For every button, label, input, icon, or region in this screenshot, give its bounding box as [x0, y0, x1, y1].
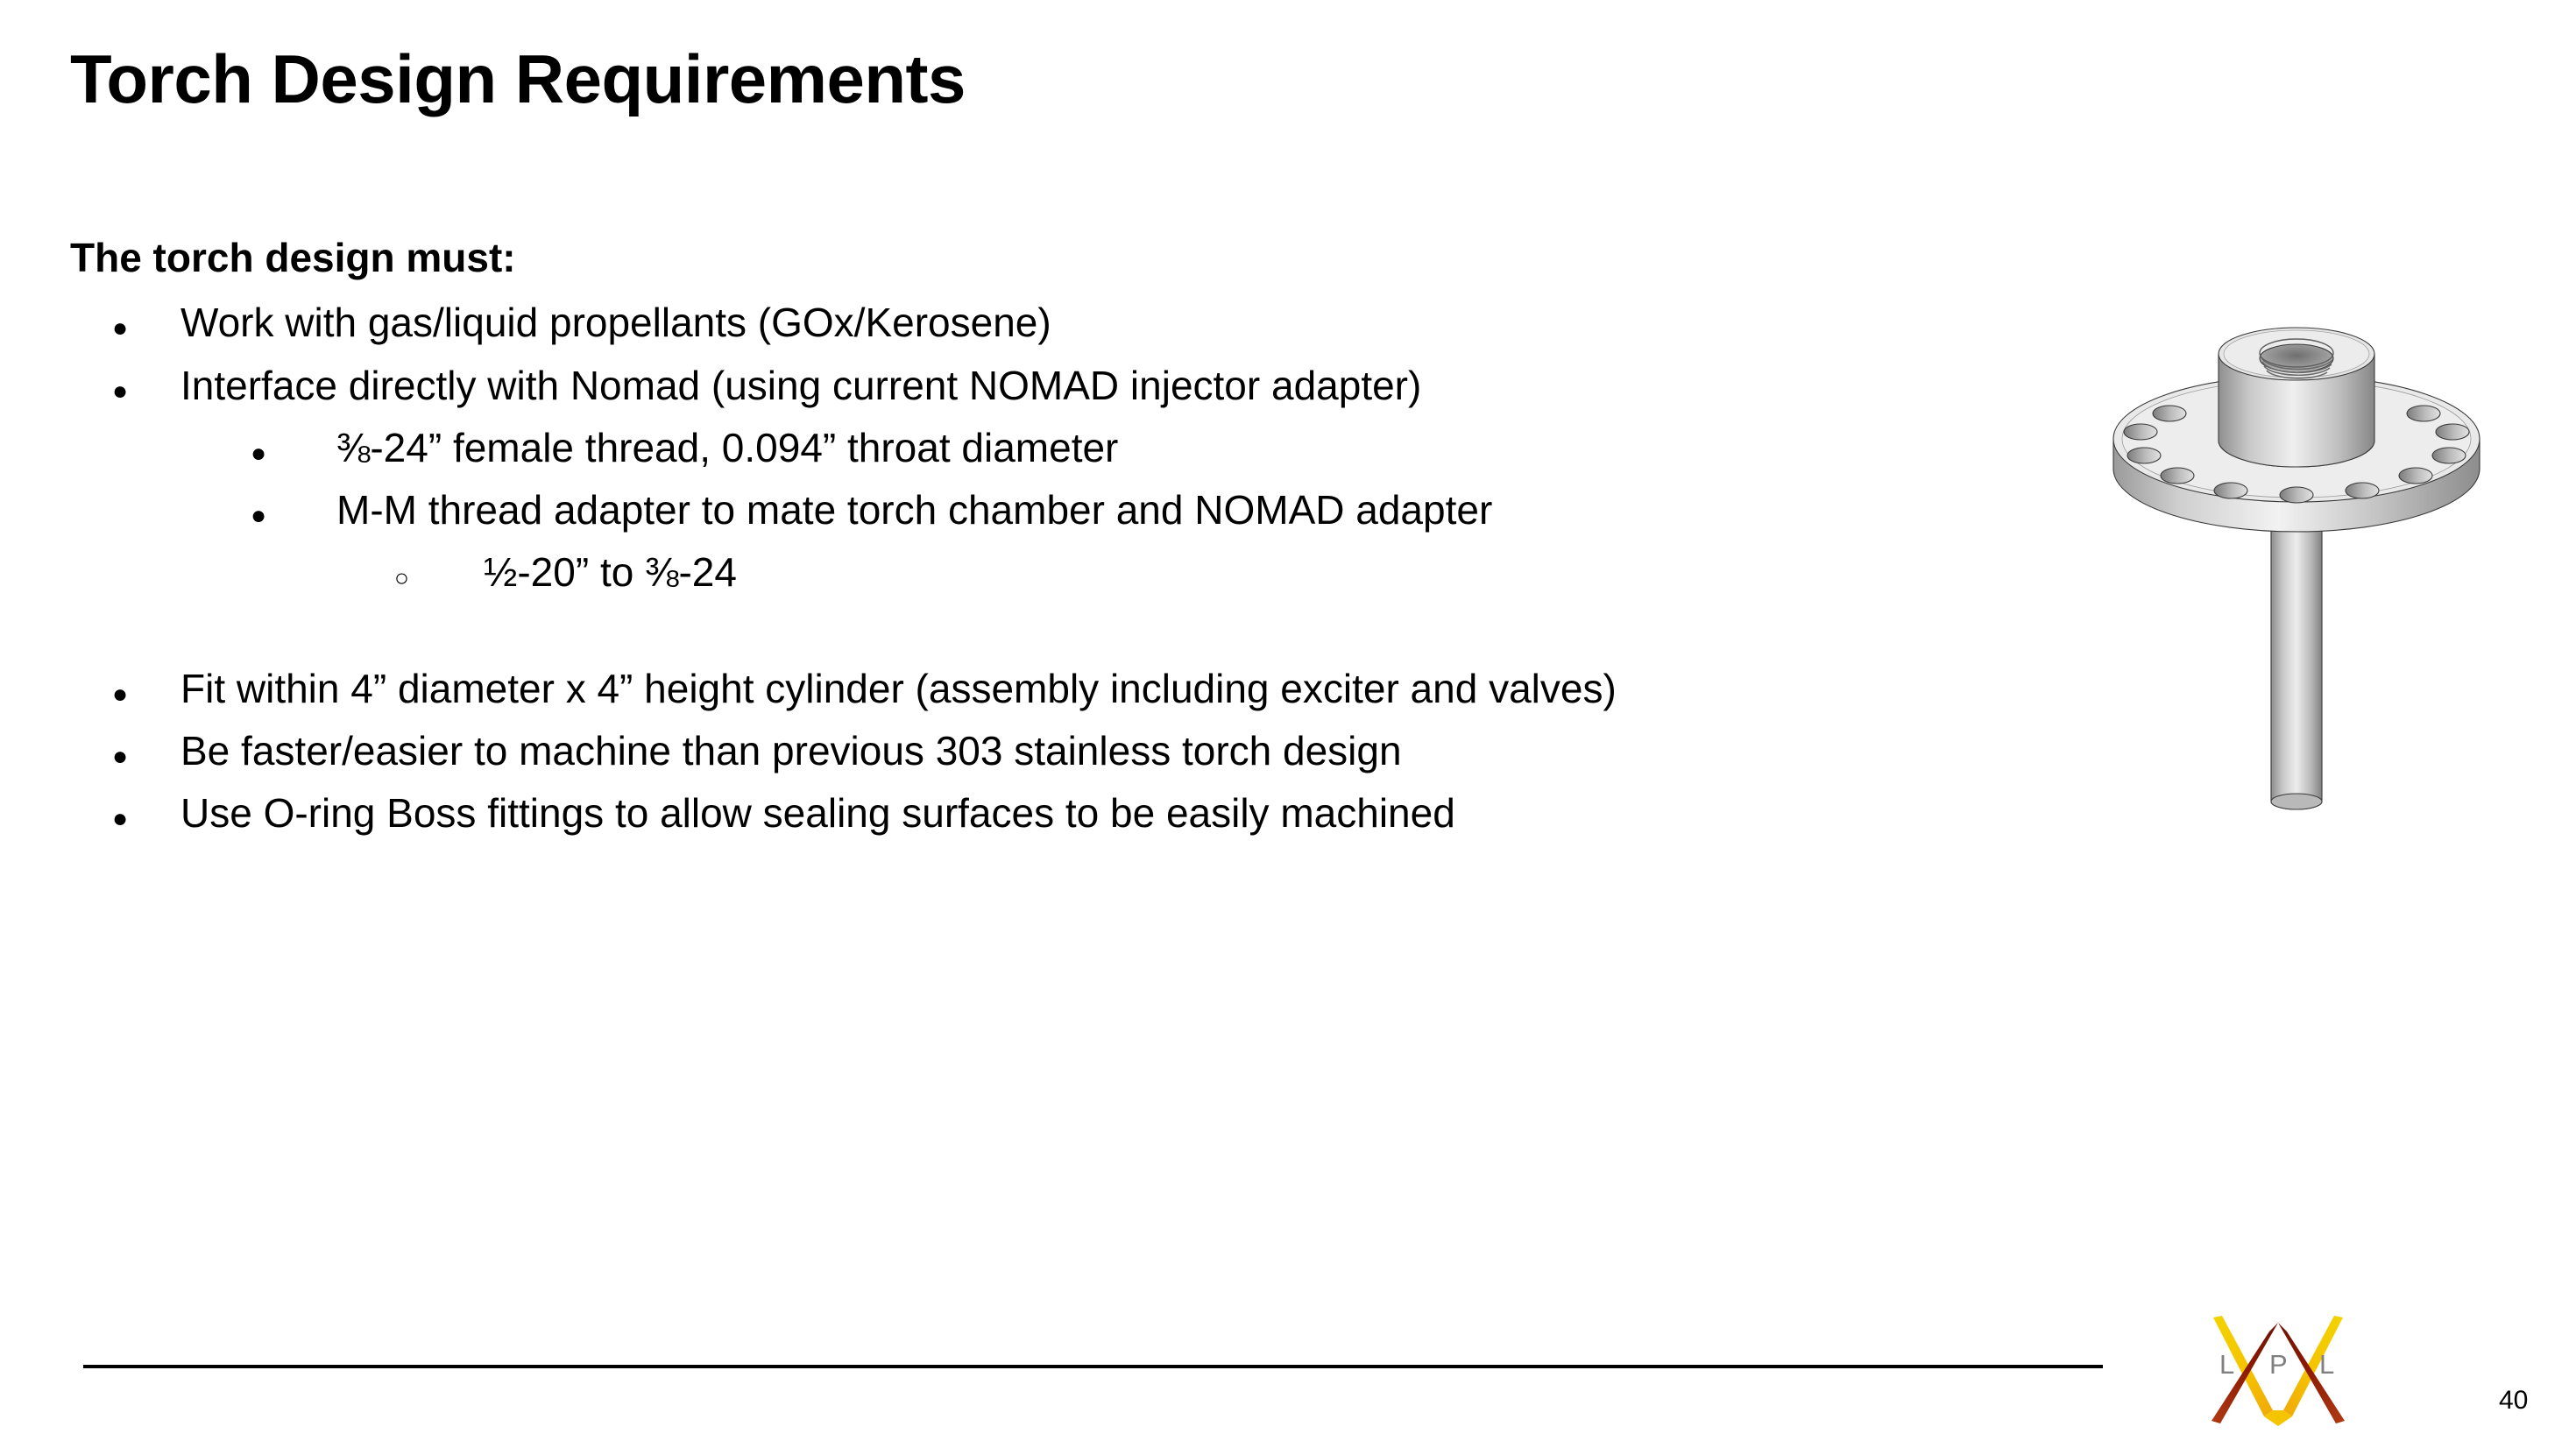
- logo-letter-l-left: L: [2219, 1349, 2234, 1380]
- bullet-text: ⅜-24” female thread, 0.094” throat diame…: [336, 427, 1118, 469]
- bullet-item: ●Be faster/easier to machine than previo…: [70, 730, 2085, 772]
- content-body: The torch design must: ●Work with gas/li…: [70, 237, 2085, 855]
- bullet-item: ●⅜-24” female thread, 0.094” throat diam…: [70, 427, 2085, 469]
- filled-bullet-icon: ●: [251, 441, 336, 467]
- stem-cylinder: [2271, 530, 2322, 809]
- filled-bullet-icon: ●: [112, 378, 180, 405]
- bullet-item: ●M-M thread adapter to mate torch chambe…: [70, 489, 2085, 531]
- bullet-text: Be faster/easier to machine than previou…: [180, 730, 1402, 772]
- bullet-item: ●Work with gas/liquid propellants (GOx/K…: [70, 301, 2085, 343]
- hollow-bullet-icon: ○: [394, 566, 484, 590]
- bullet-text: Work with gas/liquid propellants (GOx/Ke…: [180, 301, 1051, 343]
- bullet-item: ●Use O-ring Boss fittings to allow seali…: [70, 792, 2085, 834]
- bullet-text: Interface directly with Nomad (using cur…: [180, 364, 1421, 406]
- page-title: Torch Design Requirements: [70, 42, 966, 116]
- requirements-bullet-list: ●Work with gas/liquid propellants (GOx/K…: [70, 301, 2085, 834]
- filled-bullet-icon: ●: [112, 744, 180, 770]
- nomad-injector-adapter-cad-render: [2103, 311, 2515, 858]
- bullet-text: Use O-ring Boss fittings to allow sealin…: [180, 792, 1455, 834]
- lpl-logo: L P L: [2204, 1312, 2439, 1444]
- logo-letter-p: P: [2269, 1349, 2288, 1380]
- footer-divider: [83, 1365, 2103, 1368]
- filled-bullet-icon: ●: [112, 315, 180, 342]
- stem-bottom-face: [2271, 794, 2322, 809]
- lead-statement: The torch design must:: [70, 237, 2085, 279]
- bullet-item: ●Fit within 4” diameter x 4” height cyli…: [70, 667, 2085, 710]
- filled-bullet-icon: ●: [251, 503, 336, 529]
- bullet-text: Fit within 4” diameter x 4” height cylin…: [180, 667, 1617, 710]
- slide-canvas: Torch Design Requirements The torch desi…: [0, 0, 2576, 1448]
- filled-bullet-icon: ●: [112, 682, 180, 708]
- bullet-text: ½-20” to ⅜-24: [484, 551, 737, 593]
- page-number: 40: [2499, 1388, 2528, 1414]
- logo-letter-l-right: L: [2319, 1349, 2334, 1380]
- filled-bullet-icon: ●: [112, 806, 180, 832]
- bullet-text: M-M thread adapter to mate torch chamber…: [336, 489, 1492, 531]
- bullet-item: ○½-20” to ⅜-24: [70, 551, 2085, 593]
- bullet-item: ●Interface directly with Nomad (using cu…: [70, 364, 2085, 406]
